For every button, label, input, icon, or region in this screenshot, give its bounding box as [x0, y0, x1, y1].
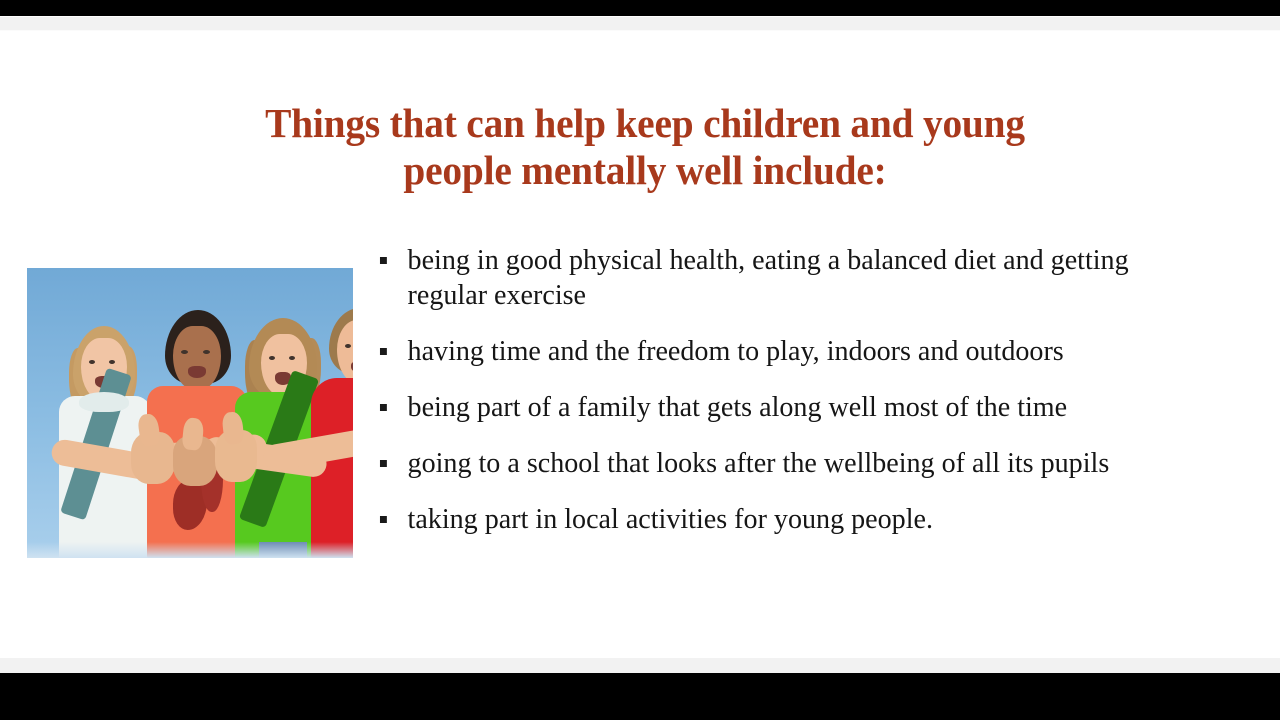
square-bullet-icon [380, 404, 387, 411]
slide-canvas: Things that can help keep children and y… [0, 31, 1280, 658]
list-item-label: being in good physical health, eating a … [408, 243, 1206, 313]
square-bullet-icon [380, 348, 387, 355]
page-title-line-2: people mentally well include: [122, 147, 1168, 194]
list-item: being in good physical health, eating a … [378, 243, 1205, 313]
square-bullet-icon [380, 460, 387, 467]
list-item-label: taking part in local activities for youn… [408, 502, 1206, 537]
page-title: Things that can help keep children and y… [122, 100, 1168, 194]
list-item: having time and the freedom to play, ind… [378, 334, 1205, 369]
child-3-eye-right [289, 356, 295, 360]
presentation-slide: Things that can help keep children and y… [0, 0, 1280, 720]
child-1-eye-left [89, 360, 95, 364]
photo-image [27, 268, 353, 558]
child-1-eye-right [109, 360, 115, 364]
list-item: taking part in local activities for youn… [378, 502, 1205, 537]
square-bullet-icon [380, 516, 387, 523]
list-item-label: going to a school that looks after the w… [408, 446, 1206, 481]
list-item-label: being part of a family that gets along w… [408, 390, 1206, 425]
letterbox-bar-bottom [0, 673, 1280, 720]
child-2-eye-left [181, 350, 188, 354]
page-title-line-1: Things that can help keep children and y… [122, 100, 1168, 147]
photo-horizon-haze [27, 542, 353, 558]
list-item-label: having time and the freedom to play, ind… [408, 334, 1206, 369]
list-item: going to a school that looks after the w… [378, 446, 1205, 481]
child-2-head [173, 326, 221, 390]
thumbs-up-arms [27, 400, 353, 496]
child-2-eye-right [203, 350, 210, 354]
children-photo [27, 268, 353, 558]
bullet-list: being in good physical health, eating a … [378, 243, 1218, 537]
thumb-up-icon-3 [221, 411, 244, 445]
child-3-eye-left [269, 356, 275, 360]
child-2-mouth [188, 366, 206, 378]
child-4-eye-left [345, 344, 351, 348]
slide-edge-strip-top [0, 16, 1280, 31]
list-item: being part of a family that gets along w… [378, 390, 1205, 425]
square-bullet-icon [380, 257, 387, 264]
slide-edge-strip-bottom [0, 658, 1280, 673]
letterbox-bar-top [0, 0, 1280, 16]
